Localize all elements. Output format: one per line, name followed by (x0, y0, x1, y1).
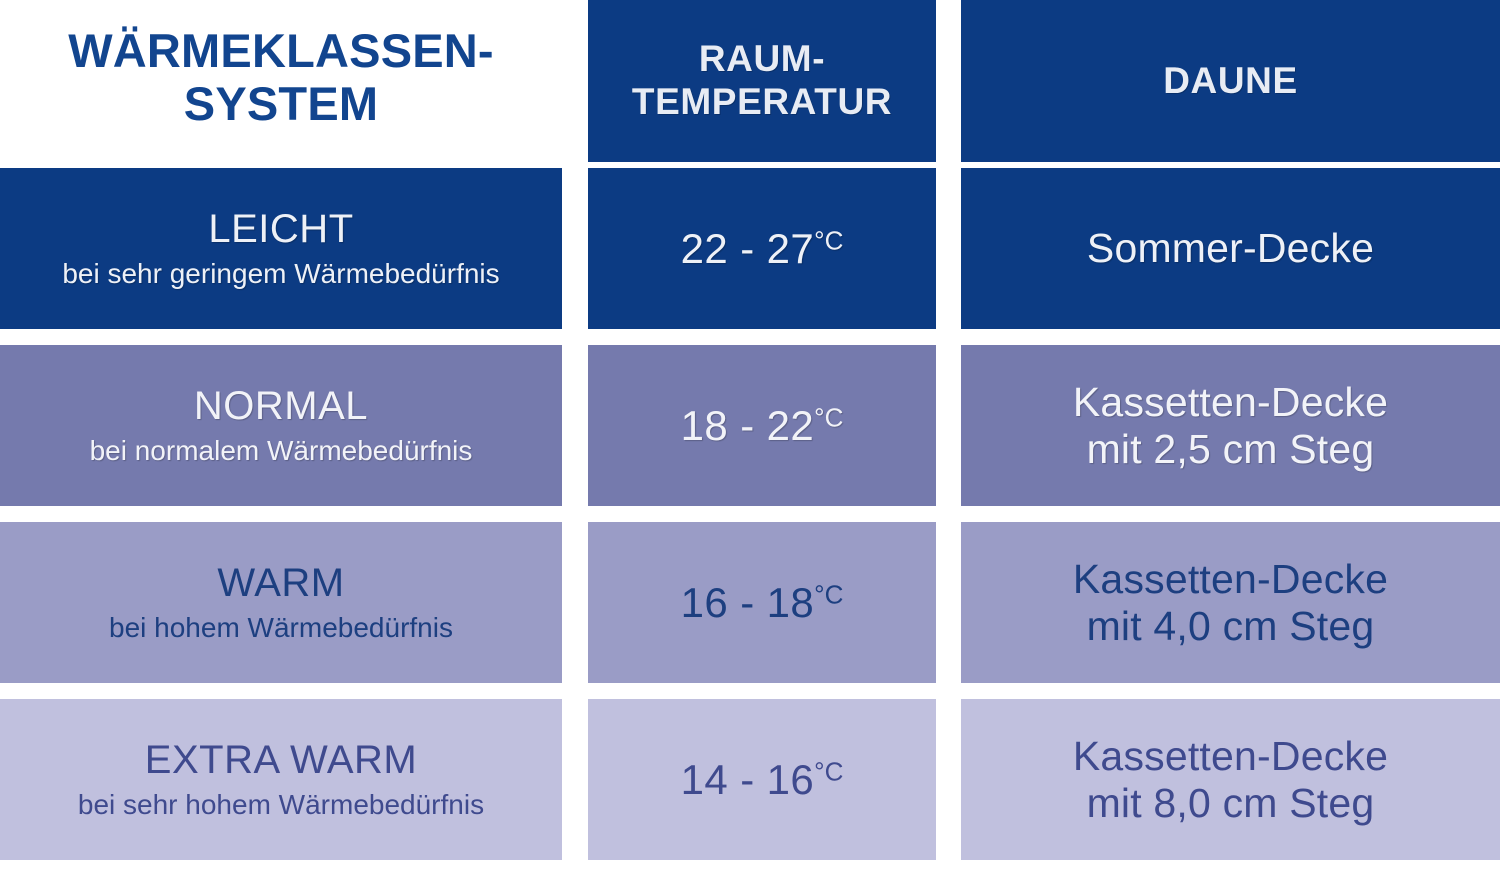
room-temperature-range: 18 - 22 (681, 402, 815, 449)
warmth-class-table: WÄRMEKLASSEN- SYSTEM RAUM- TEMPERATUR DA… (0, 0, 1500, 870)
room-temperature-range: 16 - 18 (681, 579, 815, 626)
degree-celsius-unit: °C (814, 579, 843, 609)
room-temperature-cell: 18 - 22°C (588, 345, 936, 506)
warmth-class-description: bei normalem Wärmebedürfnis (90, 436, 473, 466)
warmth-class-cell: EXTRA WARM bei sehr hohem Wärmebedürfnis (0, 699, 562, 860)
room-temperature-range: 14 - 16 (681, 756, 815, 803)
room-temperature-cell: 22 - 27°C (588, 168, 936, 329)
column-header-daune: DAUNE (961, 0, 1500, 162)
warmth-class-description: bei hohem Wärmebedürfnis (109, 613, 453, 643)
room-temperature-value: 18 - 22°C (681, 403, 844, 448)
daune-cell: Kassetten-Decke mit 4,0 cm Steg (961, 522, 1500, 683)
warmth-class-name: NORMAL (194, 385, 368, 428)
warmth-class-cell: NORMAL bei normalem Wärmebedürfnis (0, 345, 562, 506)
room-temperature-cell: 14 - 16°C (588, 699, 936, 860)
column-header-daune-label: DAUNE (1163, 60, 1298, 103)
room-temperature-value: 14 - 16°C (681, 757, 844, 802)
daune-line-1: Kassetten-Decke (1073, 380, 1388, 424)
column-header-room-temperature-line1: RAUM- (699, 38, 825, 81)
daune-cell: Sommer-Decke (961, 168, 1500, 329)
room-temperature-value: 16 - 18°C (681, 580, 844, 625)
warmth-class-cell: LEICHT bei sehr geringem Wärmebedürfnis (0, 168, 562, 329)
degree-celsius-unit: °C (814, 756, 843, 786)
room-temperature-range: 22 - 27 (681, 225, 815, 272)
daune-cell: Kassetten-Decke mit 2,5 cm Steg (961, 345, 1500, 506)
table-row: LEICHT bei sehr geringem Wärmebedürfnis … (0, 168, 1500, 337)
table-row: WARM bei hohem Wärmebedürfnis 16 - 18°C … (0, 522, 1500, 691)
degree-celsius-unit: °C (814, 225, 843, 255)
daune-line-2: mit 8,0 cm Steg (1087, 781, 1375, 825)
room-temperature-cell: 16 - 18°C (588, 522, 936, 683)
daune-line-1: Kassetten-Decke (1073, 734, 1388, 778)
degree-celsius-unit: °C (814, 402, 843, 432)
table-header-row: WÄRMEKLASSEN- SYSTEM RAUM- TEMPERATUR DA… (0, 0, 1500, 168)
warmth-class-cell: WARM bei hohem Wärmebedürfnis (0, 522, 562, 683)
warmth-class-name: LEICHT (208, 208, 353, 251)
warmth-class-description: bei sehr geringem Wärmebedürfnis (62, 259, 499, 289)
table-row: NORMAL bei normalem Wärmebedürfnis 18 - … (0, 345, 1500, 514)
warmth-class-name: EXTRA WARM (145, 739, 417, 782)
page-title-line2: SYSTEM (184, 78, 378, 131)
table-row: EXTRA WARM bei sehr hohem Wärmebedürfnis… (0, 699, 1500, 868)
warmth-class-description: bei sehr hohem Wärmebedürfnis (78, 790, 484, 820)
column-header-room-temperature: RAUM- TEMPERATUR (588, 0, 936, 162)
daune-cell: Kassetten-Decke mit 8,0 cm Steg (961, 699, 1500, 860)
column-header-room-temperature-line2: TEMPERATUR (632, 81, 892, 124)
daune-line-1: Kassetten-Decke (1073, 557, 1388, 601)
room-temperature-value: 22 - 27°C (681, 226, 844, 271)
daune-line-2: mit 2,5 cm Steg (1087, 427, 1375, 471)
daune-line-2: mit 4,0 cm Steg (1087, 604, 1375, 648)
daune-line-1: Sommer-Decke (1087, 226, 1374, 270)
page-title-line1: WÄRMEKLASSEN- (68, 25, 494, 78)
page-title: WÄRMEKLASSEN- SYSTEM (0, 0, 562, 162)
warmth-class-name: WARM (217, 562, 344, 605)
